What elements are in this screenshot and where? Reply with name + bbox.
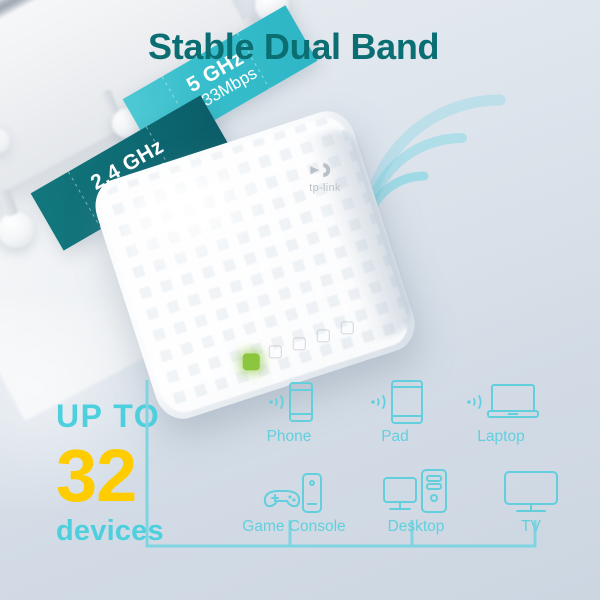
device-item-pad: Pad — [342, 378, 448, 446]
wifi-signal-small-icon — [366, 390, 388, 414]
device-item-game-console: Game Console — [234, 468, 354, 536]
supported-devices-grid: Phone — [236, 378, 576, 550]
device-row-1: Phone — [236, 378, 576, 446]
laptop-icon — [486, 382, 540, 422]
tp-link-logo: tp-link — [309, 160, 340, 194]
desktop-tower-icon — [381, 468, 451, 516]
led-indicator-1 — [269, 345, 282, 358]
device-item-tv: TV — [484, 468, 578, 536]
device-label-tv: TV — [521, 518, 541, 536]
device-item-laptop: Laptop — [448, 378, 554, 446]
tp-link-wordmark: tp-link — [309, 182, 340, 194]
led-indicator-2 — [293, 337, 306, 350]
device-label-phone: Phone — [267, 428, 312, 446]
wifi-signal-small-icon — [264, 390, 286, 414]
television-icon — [502, 469, 560, 515]
tablet-icon — [390, 379, 424, 425]
tp-link-mark-icon — [310, 160, 340, 180]
wifi-signal-small-icon — [462, 390, 484, 414]
device-row-2: Game Console — [236, 468, 576, 550]
device-label-laptop: Laptop — [477, 428, 524, 446]
gamepad-console-icon — [261, 469, 327, 515]
led-indicator-3 — [317, 329, 330, 342]
smartphone-icon — [288, 381, 314, 423]
device-item-phone: Phone — [236, 378, 342, 446]
device-label-desktop: Desktop — [388, 518, 445, 536]
power-led-indicator — [243, 353, 260, 370]
device-item-desktop: Desktop — [360, 468, 472, 536]
page-title: Stable Dual Band — [148, 26, 439, 68]
led-indicator-4 — [341, 321, 354, 334]
product-marketing-image: 5 GHz 433Mbps 2.4 GHz 300Mbps tp-link — [0, 0, 600, 600]
wifi-signal-icon — [360, 88, 530, 238]
device-label-pad: Pad — [381, 428, 409, 446]
device-label-game-console: Game Console — [242, 518, 345, 536]
